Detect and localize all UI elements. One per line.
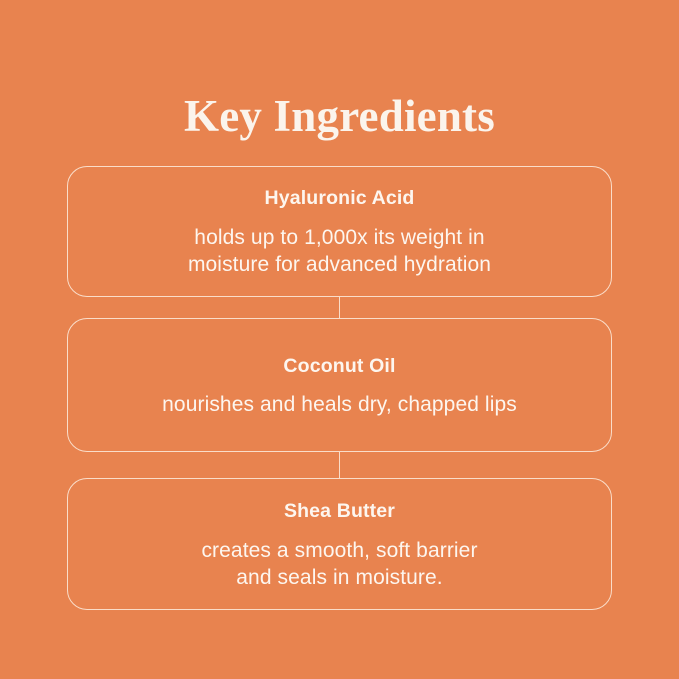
- ingredient-card-coconut-oil: Coconut Oil nourishes and heals dry, cha…: [67, 318, 612, 452]
- ingredient-description: creates a smooth, soft barrier and seals…: [201, 537, 477, 591]
- ingredient-heading: Shea Butter: [284, 498, 395, 524]
- connector-card2-card3: [67, 452, 612, 478]
- connector-line-icon: [339, 297, 340, 318]
- ingredient-card-stack: Hyaluronic Acid holds up to 1,000x its w…: [67, 166, 612, 610]
- key-ingredients-infographic: Key Ingredients Hyaluronic Acid holds up…: [0, 0, 679, 679]
- ingredient-description: holds up to 1,000x its weight in moistur…: [188, 224, 491, 278]
- page-title: Key Ingredients: [0, 88, 679, 144]
- ingredient-heading: Hyaluronic Acid: [265, 185, 415, 211]
- ingredient-description: nourishes and heals dry, chapped lips: [162, 391, 517, 418]
- connector-line-icon: [339, 452, 340, 478]
- connector-card1-card2: [67, 297, 612, 318]
- ingredient-card-hyaluronic-acid: Hyaluronic Acid holds up to 1,000x its w…: [67, 166, 612, 297]
- ingredient-heading: Coconut Oil: [283, 353, 395, 379]
- ingredient-card-shea-butter: Shea Butter creates a smooth, soft barri…: [67, 478, 612, 610]
